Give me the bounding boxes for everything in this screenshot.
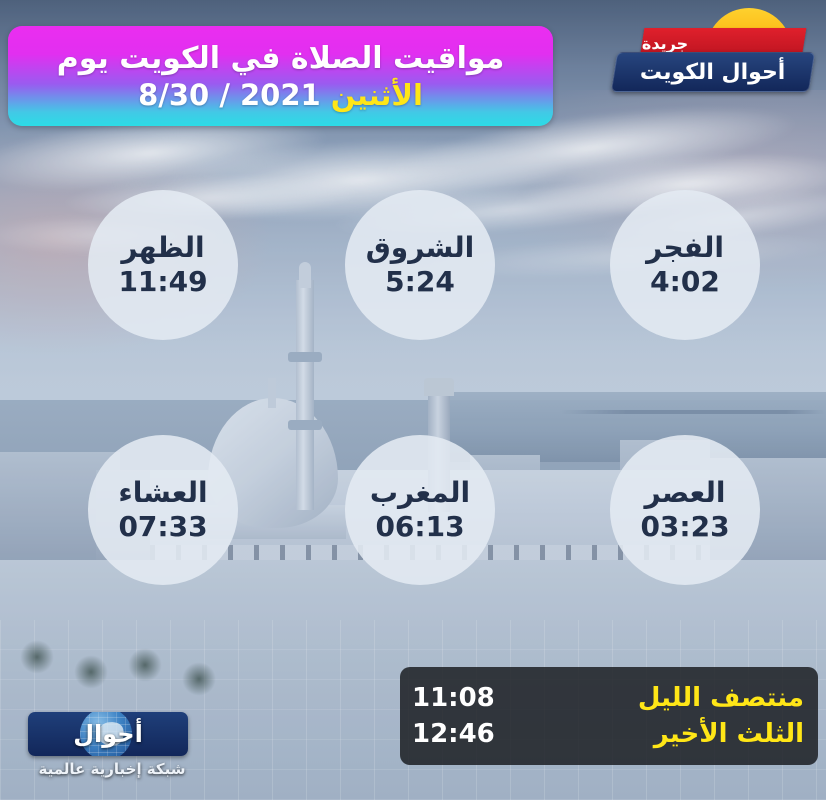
prayer-name: العشاء: [118, 479, 207, 507]
prayer-name: الظهر: [121, 234, 204, 262]
newspaper-name-label: أحوال الكويت: [640, 60, 785, 85]
title-banner: مواقيت الصلاة في الكويت يوم الأثنين 8/30…: [8, 26, 553, 126]
prayer-circle-maghrib[interactable]: المغرب 06:13: [345, 435, 495, 585]
prayer-circle-fajr[interactable]: الفجر 4:02: [610, 190, 760, 340]
prayer-time: 4:02: [650, 268, 720, 296]
date-label: 8/30 / 2021: [138, 78, 321, 112]
prayer-name: العصر: [645, 479, 726, 507]
night-label: الثلث الأخير: [654, 719, 804, 749]
page-title: مواقيت الصلاة في الكويت يوم: [57, 41, 505, 76]
night-times-box: منتصف الليل 11:08 الثلث الأخير 12:46: [400, 667, 818, 765]
network-badge: أحوال: [28, 712, 188, 756]
prayer-time: 11:49: [118, 268, 207, 296]
prayer-circle-asr[interactable]: العصر 03:23: [610, 435, 760, 585]
night-row-midnight: منتصف الليل 11:08: [412, 683, 804, 713]
weekday-label: الأثنين: [331, 78, 423, 112]
night-row-last-third: الثلث الأخير 12:46: [412, 719, 804, 749]
prayer-circle-shurooq[interactable]: الشروق 5:24: [345, 190, 495, 340]
prayer-time: 03:23: [640, 513, 729, 541]
prayer-circle-isha[interactable]: العشاء 07:33: [88, 435, 238, 585]
network-logo[interactable]: أحوال شبكة إخبارية عالمية: [12, 712, 212, 784]
prayer-name: المغرب: [370, 479, 470, 507]
prayer-circle-dhuhr[interactable]: الظهر 11:49: [88, 190, 238, 340]
newspaper-logo[interactable]: جريدة أحوال الكويت: [608, 4, 818, 100]
prayer-name: الشروق: [366, 234, 474, 262]
prayer-time: 07:33: [118, 513, 207, 541]
infographic-canvas: مواقيت الصلاة في الكويت يوم الأثنين 8/30…: [0, 0, 826, 800]
network-name-label: أحوال: [73, 720, 143, 748]
newspaper-name-banner: أحوال الكويت: [611, 52, 815, 92]
night-time: 12:46: [412, 719, 495, 749]
network-tagline: شبكة إخبارية عالمية: [12, 760, 212, 778]
night-time: 11:08: [412, 683, 495, 713]
prayer-name: الفجر: [646, 234, 724, 262]
title-date-row: الأثنين 8/30 / 2021: [138, 78, 423, 112]
prayer-time: 06:13: [375, 513, 464, 541]
prayer-time: 5:24: [385, 268, 455, 296]
night-label: منتصف الليل: [638, 683, 804, 713]
newspaper-kicker-label: جريدة: [642, 34, 688, 53]
